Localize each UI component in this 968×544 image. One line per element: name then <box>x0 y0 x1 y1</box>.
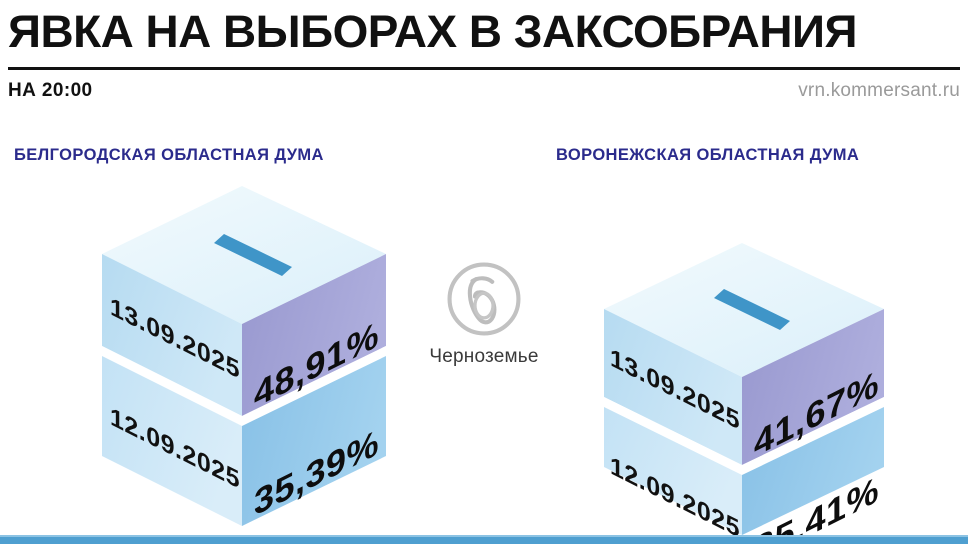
chart-title-voronezh: ВОРОНЕЖСКАЯ ОБЛАСТНАЯ ДУМА <box>556 146 859 165</box>
footer-bar-highlight <box>0 535 968 537</box>
brand-block: Черноземье <box>424 258 544 368</box>
chart-title-belgorod: БЕЛГОРОДСКАЯ ОБЛАСТНАЯ ДУМА <box>14 146 324 165</box>
ballot-box-voronezh: 13.09.2025 12.09.2025 41,67% 25,41% <box>596 243 896 543</box>
header-subline: НА 20:00 vrn.kommersant.ru <box>8 78 960 108</box>
infographic-page: ЯВКА НА ВЫБОРАХ В ЗАКСОБРАНИЯ НА 20:00 v… <box>0 0 968 544</box>
source-site-label: vrn.kommersant.ru <box>798 78 960 104</box>
kommersant-logo-icon <box>443 258 525 340</box>
brand-caption: Черноземье <box>424 346 544 368</box>
ballot-box-belgorod: 13.09.2025 12.09.2025 48,91% 35,39% <box>96 186 396 534</box>
page-title: ЯВКА НА ВЫБОРАХ В ЗАКСОБРАНИЯ <box>8 4 968 60</box>
header-divider <box>8 67 960 70</box>
footer-bar <box>0 535 968 544</box>
timestamp-label: НА 20:00 <box>8 78 93 104</box>
